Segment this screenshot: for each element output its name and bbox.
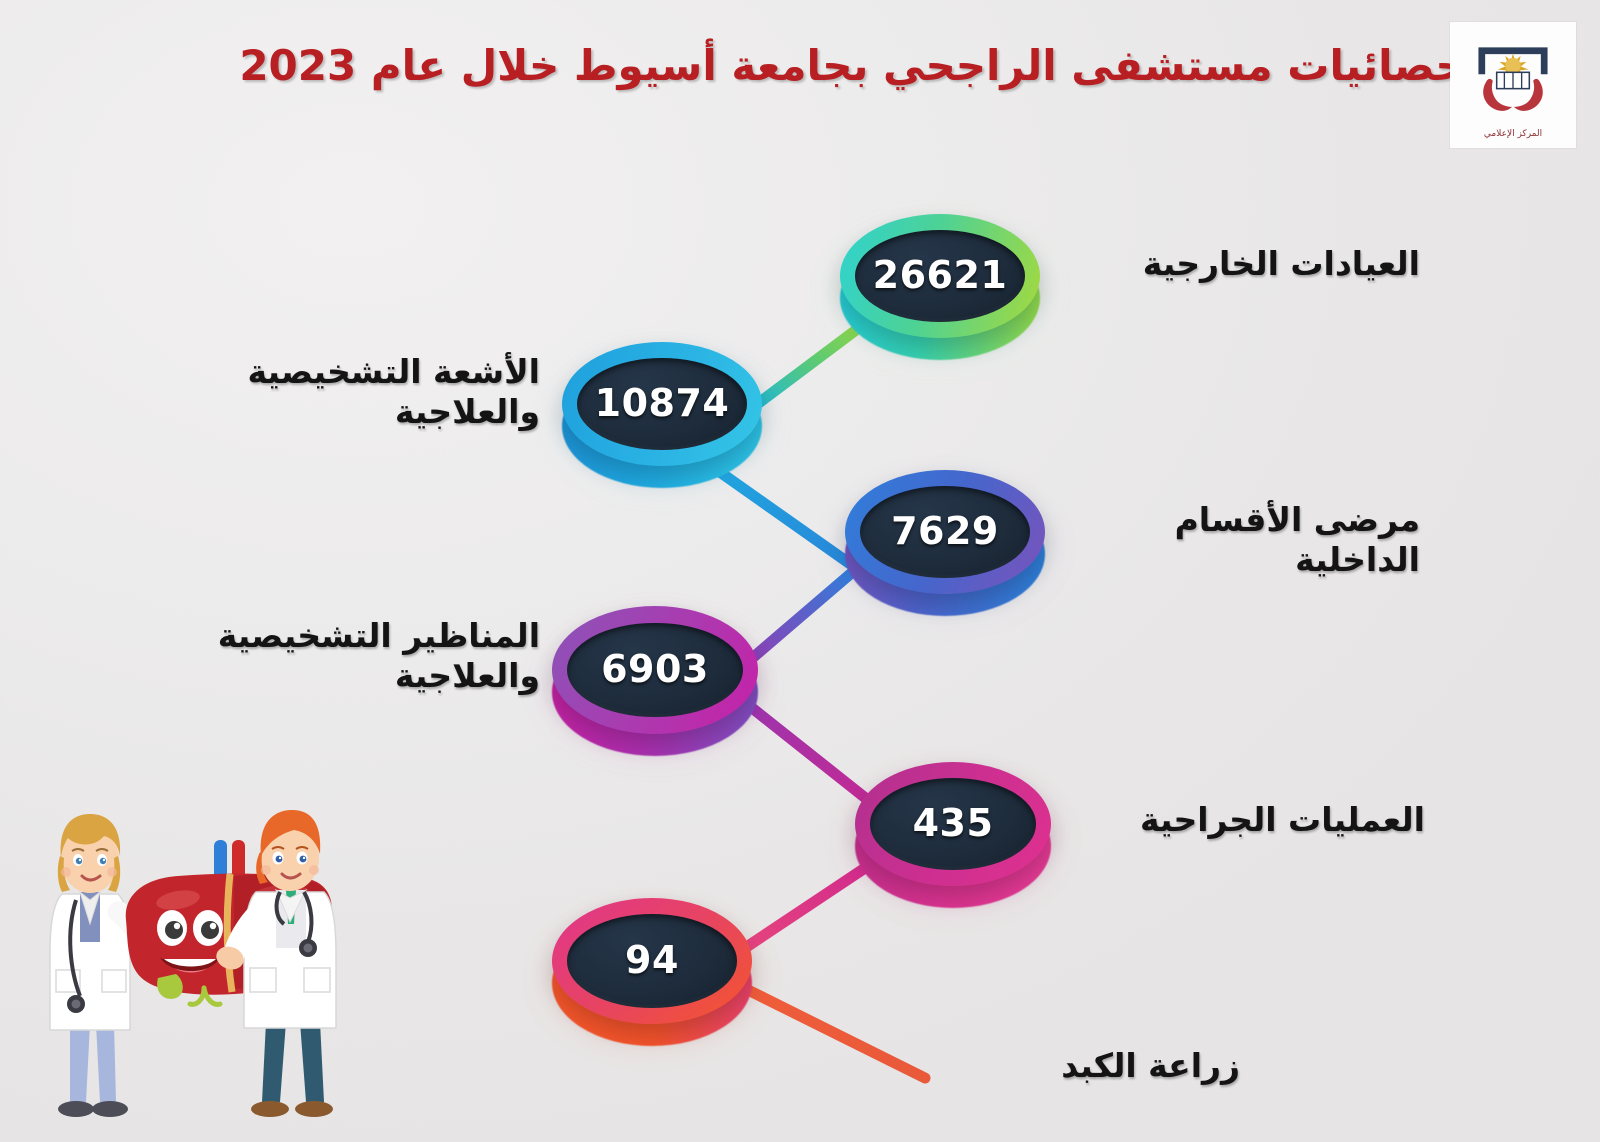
label-inpatient: مرضى الأقسام الداخلية <box>1060 500 1420 581</box>
node-coin: 435 <box>855 762 1051 886</box>
node-outpatient[interactable]: 26621 <box>840 214 1040 338</box>
node-value: 26621 <box>873 253 1008 297</box>
node-liver-transplant[interactable]: 94 <box>552 898 752 1024</box>
node-value: 10874 <box>595 381 730 425</box>
node-value: 435 <box>913 801 994 845</box>
node-surgery[interactable]: 435 <box>855 762 1051 886</box>
node-face: 6903 <box>567 623 742 718</box>
node-coin: 26621 <box>840 214 1040 338</box>
node-coin: 10874 <box>562 342 762 466</box>
node-radiology[interactable]: 10874 <box>562 342 762 466</box>
node-coin: 6903 <box>552 606 758 734</box>
node-face: 26621 <box>855 230 1025 322</box>
male-doctor-figure <box>213 810 336 1117</box>
label-liver-transplant: زراعة الكبد <box>940 1046 1240 1086</box>
node-coin: 94 <box>552 898 752 1024</box>
node-face: 435 <box>870 778 1037 870</box>
label-endoscopy: المناظير التشخيصية والعلاجية <box>130 616 540 697</box>
node-inpatient[interactable]: 7629 <box>845 470 1045 594</box>
two-doctors-holding-cartoon-liver-illustration <box>18 772 388 1142</box>
node-value: 94 <box>625 938 679 982</box>
node-coin: 7629 <box>845 470 1045 594</box>
label-radiology: الأشعة التشخيصية والعلاجية <box>120 352 540 433</box>
node-face: 94 <box>567 914 737 1007</box>
node-value: 6903 <box>601 647 709 691</box>
node-value: 7629 <box>891 509 999 553</box>
node-face: 10874 <box>577 358 747 450</box>
label-surgery: العمليات الجراحية <box>1065 800 1425 840</box>
node-face: 7629 <box>860 486 1030 578</box>
label-outpatient: العيادات الخارجية <box>1050 244 1420 284</box>
node-endoscopy[interactable]: 6903 <box>552 606 758 734</box>
